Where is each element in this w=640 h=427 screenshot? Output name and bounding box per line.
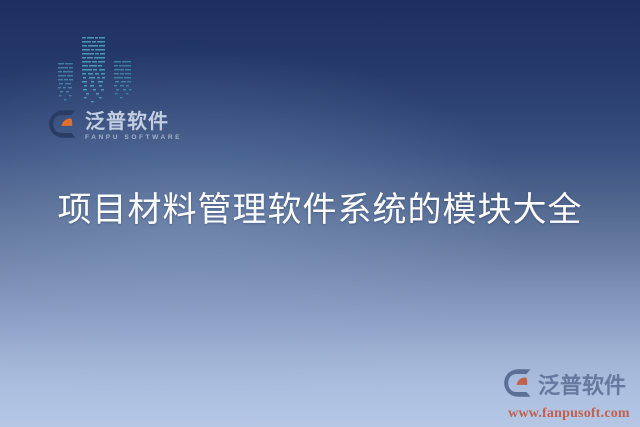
watermark: 泛普软件 www.fanpusoft.com: [503, 368, 635, 422]
promo-banner: 泛普软件 FANPU SOFTWARE 项目材料管理软件系统的模块大全 泛普软件…: [0, 0, 640, 427]
watermark-url: www.fanpusoft.com: [503, 406, 635, 422]
fanpu-hexagon-swoosh-icon: [48, 109, 78, 144]
pixel-cityscape-icon: [56, 33, 166, 113]
logo-wordmark: 泛普软件 FANPU SOFTWARE: [85, 112, 182, 142]
fanpu-hexagon-swoosh-icon: [503, 368, 533, 403]
logo-name-cn: 泛普软件: [85, 112, 182, 132]
watermark-logo-row: 泛普软件: [503, 368, 635, 403]
fanpu-logo: 泛普软件 FANPU SOFTWARE: [48, 109, 182, 144]
logo-name-en: FANPU SOFTWARE: [85, 135, 182, 142]
watermark-name-cn: 泛普软件: [538, 375, 626, 397]
page-title: 项目材料管理软件系统的模块大全: [0, 182, 640, 231]
